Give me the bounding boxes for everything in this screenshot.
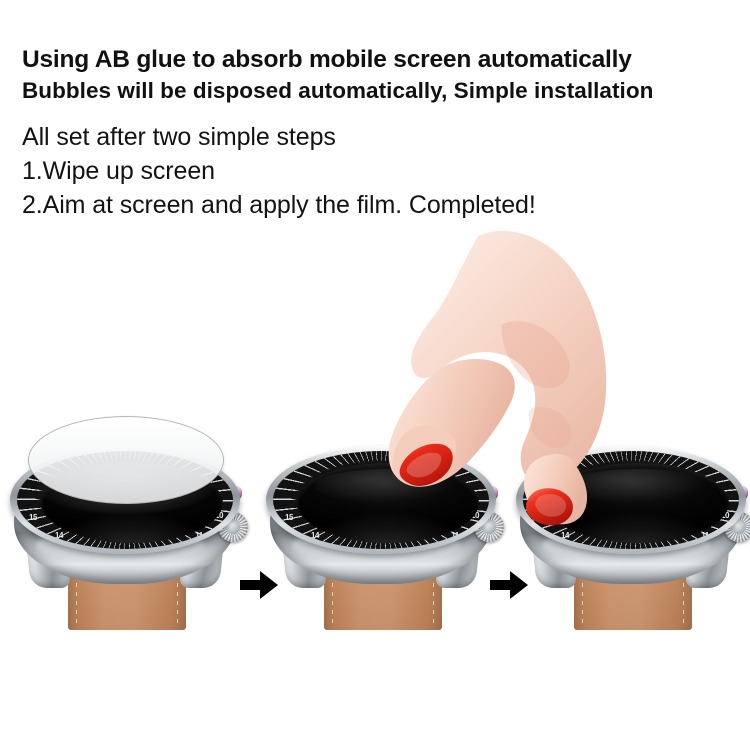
instruction-intro: All set after two simple steps — [22, 120, 738, 154]
illustration-stage: 15 14 11 10 — [0, 412, 750, 662]
instruction-step-1: 1.Wipe up screen — [22, 154, 738, 188]
instruction-list: All set after two simple steps 1.Wipe up… — [22, 120, 738, 222]
bezel-numeral: 15 — [285, 513, 293, 522]
display-reflection — [52, 513, 212, 543]
watch-bezel: 15 14 11 10 — [516, 446, 746, 554]
display-glint — [565, 469, 711, 503]
bezel-inner-ring: 15 14 11 10 — [523, 451, 739, 549]
instruction-step-2: 2.Aim at screen and apply the film. Comp… — [22, 188, 738, 222]
product-infographic: Using AB glue to absorb mobile screen au… — [0, 0, 750, 750]
arrow-right-icon — [488, 568, 530, 602]
bezel-numeral: 15 — [29, 513, 37, 522]
watch-display — [297, 463, 479, 543]
watch-display — [547, 463, 729, 543]
display-reflection — [308, 513, 468, 543]
headline-line-2: Bubbles will be disposed automatically, … — [22, 75, 738, 106]
headline-line-1: Using AB glue to absorb mobile screen au… — [22, 44, 738, 75]
watch-bezel: 15 14 11 10 — [266, 446, 496, 554]
watch-step-1: 15 14 11 10 — [6, 412, 244, 662]
watch-step-3: 15 14 11 10 — [512, 412, 750, 662]
display-glint — [315, 469, 461, 503]
bezel-numeral: 15 — [535, 513, 543, 522]
watch-step-2: 15 14 11 10 — [262, 412, 500, 662]
text-block: Using AB glue to absorb mobile screen au… — [22, 44, 738, 222]
arrow-right-icon — [238, 568, 280, 602]
screen-protector-film — [28, 416, 224, 504]
bezel-inner-ring: 15 14 11 10 — [273, 451, 489, 549]
display-reflection — [558, 513, 718, 543]
